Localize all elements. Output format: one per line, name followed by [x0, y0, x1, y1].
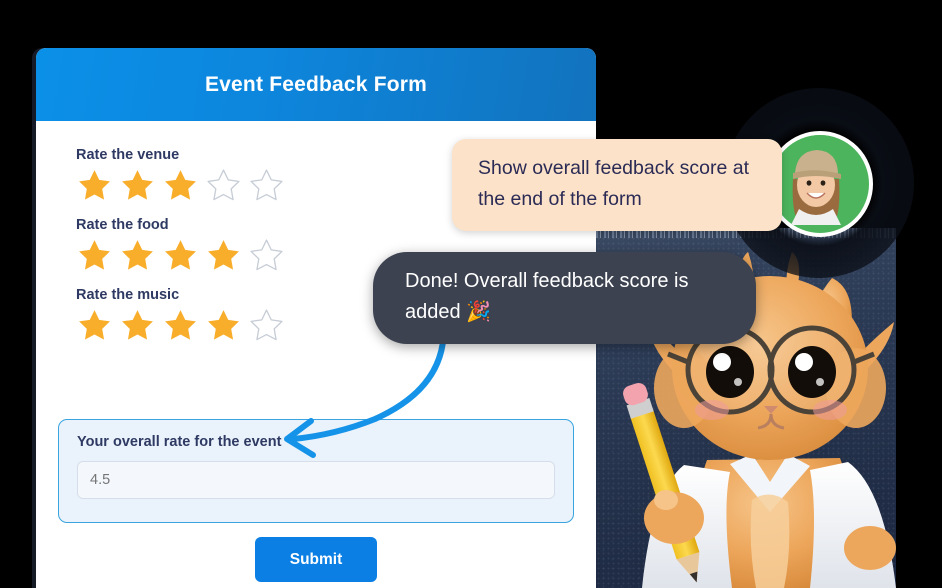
star-filled-icon[interactable] [119, 167, 156, 203]
star-filled-icon[interactable] [76, 237, 113, 273]
user-message-text: Show overall feedback score at the end o… [478, 157, 749, 210]
user-message-bubble: Show overall feedback score at the end o… [452, 139, 782, 231]
star-filled-icon[interactable] [205, 307, 242, 343]
star-filled-icon[interactable] [119, 237, 156, 273]
form-header: Event Feedback Form [36, 48, 596, 121]
star-filled-icon[interactable] [119, 307, 156, 343]
screenshot-stage: Event Feedback Form Rate the venue Rate … [0, 0, 942, 588]
star-empty-icon[interactable] [248, 237, 285, 273]
star-filled-icon[interactable] [76, 307, 113, 343]
star-filled-icon[interactable] [162, 307, 199, 343]
page-title: Event Feedback Form [205, 73, 427, 97]
submit-button[interactable]: Submit [255, 537, 377, 582]
overall-score-input[interactable] [77, 461, 555, 499]
star-filled-icon[interactable] [162, 237, 199, 273]
star-filled-icon[interactable] [76, 167, 113, 203]
assistant-message-text: Done! Overall feedback score is added 🎉 [405, 270, 688, 323]
star-filled-icon[interactable] [205, 237, 242, 273]
star-empty-icon[interactable] [205, 167, 242, 203]
assistant-message-bubble: Done! Overall feedback score is added 🎉 [373, 252, 756, 344]
star-filled-icon[interactable] [162, 167, 199, 203]
user-avatar-photo [767, 131, 873, 237]
star-empty-icon[interactable] [248, 167, 285, 203]
